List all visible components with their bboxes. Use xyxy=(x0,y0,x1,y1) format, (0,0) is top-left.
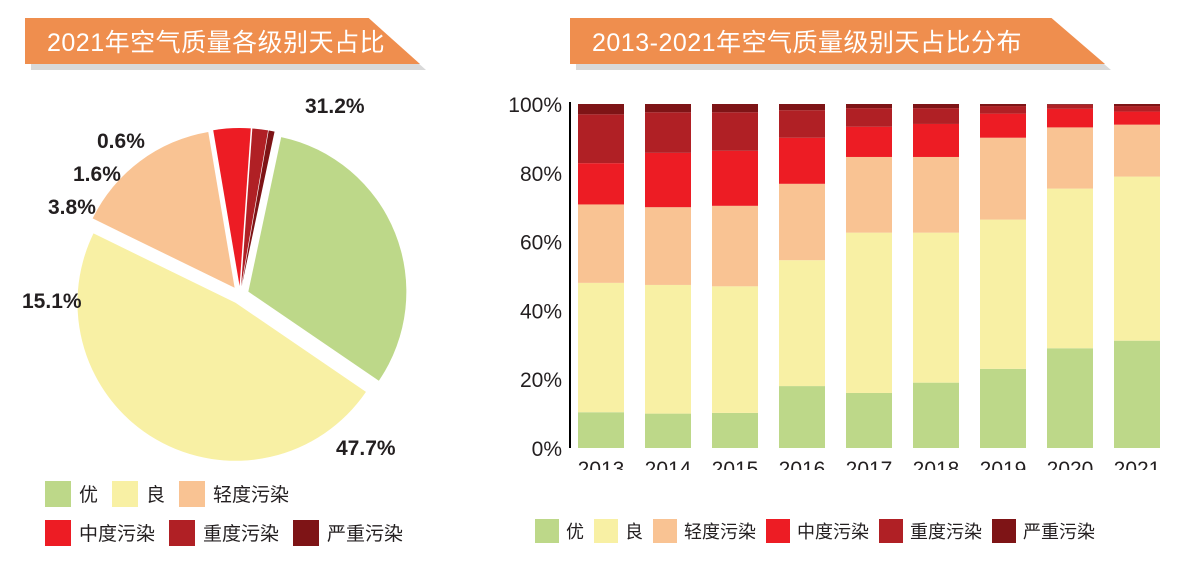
legend-item-zhongduwuran[interactable]: 中度污染 xyxy=(45,519,155,546)
legend-item-liang[interactable]: 良 xyxy=(112,480,165,507)
x-tick-label: 2020 xyxy=(1047,458,1094,470)
legend-swatch-liang xyxy=(112,481,138,507)
left-title-banner: 2021年空气质量各级别天占比 xyxy=(25,18,420,64)
legend-item-yanzhongwuran[interactable]: 严重污染 xyxy=(293,519,403,546)
bar-segment-you xyxy=(779,386,825,448)
bar-segment-qingduwuran xyxy=(645,207,691,285)
pie-legend: 优 良 轻度污染 中度污染 重度污染 严重污染 xyxy=(45,480,465,558)
bar-segment-zhongduwuran xyxy=(980,114,1026,138)
legend-label-qingduwuran: 轻度污染 xyxy=(213,480,289,507)
bar-segment-zhongduwuran-heavy xyxy=(578,114,624,163)
bar-legend-item-qingduwuran[interactable]: 轻度污染 xyxy=(653,518,756,544)
x-axis-ticks: 201320142015201620172018201920202021 xyxy=(578,458,1161,470)
bar-segment-yanzhongwuran xyxy=(578,104,624,114)
bar-legend-item-yanzhongwuran[interactable]: 严重污染 xyxy=(992,518,1095,544)
bar-segment-you xyxy=(578,412,624,448)
bar-segment-zhongduwuran-heavy xyxy=(913,108,959,124)
legend-label-zhongduwuran-heavy: 重度污染 xyxy=(203,519,279,546)
bar-segment-qingduwuran xyxy=(913,157,959,233)
pie-label-liang: 47.7% xyxy=(336,437,396,461)
bar-segment-you xyxy=(712,413,758,448)
pie-chart-panel: 2021年空气质量各级别天占比 31.2% 0.6% 1.6% 3.8% 15.… xyxy=(0,0,500,575)
bar-segment-you xyxy=(980,369,1026,448)
bar-segment-liang xyxy=(1114,177,1160,341)
legend-label-yanzhongwuran: 严重污染 xyxy=(327,519,403,546)
bar-segment-you xyxy=(913,383,959,448)
bar-segment-zhongduwuran xyxy=(645,153,691,207)
x-tick-label: 2021 xyxy=(1114,458,1161,470)
bar-segment-qingduwuran xyxy=(578,204,624,282)
bar-segment-liang xyxy=(913,233,959,383)
bar-segment-you xyxy=(1047,348,1093,448)
y-tick-label: 80% xyxy=(520,163,562,186)
bar-legend-swatch-you xyxy=(535,519,559,543)
bar-segment-zhongduwuran xyxy=(1047,109,1093,128)
bar-segment-yanzhongwuran xyxy=(846,104,892,108)
y-tick-label: 100% xyxy=(508,94,562,117)
bar-segment-you xyxy=(1114,341,1160,448)
right-title-banner: 2013-2021年空气质量级别天占比分布 xyxy=(570,18,1105,64)
bar-segment-liang xyxy=(779,260,825,386)
legend-swatch-zhongduwuran xyxy=(45,520,71,546)
stacked-bar-chart: 0%20%40%60%80%100% 201320142015201620172… xyxy=(500,90,1200,470)
bar-segment-zhongduwuran-heavy xyxy=(846,108,892,127)
bar-legend-swatch-zhongduwuran xyxy=(766,519,790,543)
x-tick-label: 2018 xyxy=(913,458,960,470)
bar-segment-liang xyxy=(846,233,892,393)
bar-segment-zhongduwuran xyxy=(913,124,959,157)
y-tick-label: 20% xyxy=(520,369,562,392)
bar-segment-zhongduwuran xyxy=(1114,112,1160,125)
bar-legend-item-you[interactable]: 优 xyxy=(535,518,584,544)
legend-swatch-qingduwuran xyxy=(179,481,205,507)
bar-segment-qingduwuran xyxy=(1047,127,1093,188)
legend-label-liang: 良 xyxy=(146,480,165,507)
bar-segment-qingduwuran xyxy=(846,157,892,233)
bar-legend-label-zhongduwuran: 中度污染 xyxy=(797,518,869,544)
bar-segment-qingduwuran xyxy=(980,138,1026,220)
pie-label-zhongdu: 3.8% xyxy=(48,196,96,220)
bar-segment-zhongduwuran-heavy xyxy=(1047,105,1093,109)
bar-legend: 优 良 轻度污染 中度污染 重度污染 严重污染 xyxy=(535,518,1195,544)
right-chart-title: 2013-2021年空气质量级别天占比分布 xyxy=(592,23,1022,59)
bar-segment-zhongduwuran-heavy xyxy=(779,110,825,138)
legend-item-qingduwuran[interactable]: 轻度污染 xyxy=(179,480,289,507)
bar-segment-liang xyxy=(980,220,1026,369)
bar-segment-zhongduwuran xyxy=(712,151,758,206)
bar-legend-swatch-liang xyxy=(594,519,618,543)
x-tick-label: 2014 xyxy=(645,458,692,470)
x-tick-label: 2017 xyxy=(846,458,893,470)
pie-label-you: 31.2% xyxy=(305,95,365,119)
legend-swatch-you xyxy=(45,481,71,507)
bar-segment-zhongduwuran xyxy=(779,138,825,184)
y-tick-label: 0% xyxy=(532,438,562,461)
bar-chart-svg: 0%20%40%60%80%100% 201320142015201620172… xyxy=(500,90,1200,470)
legend-item-you[interactable]: 优 xyxy=(45,480,98,507)
bar-segment-you xyxy=(846,393,892,448)
bar-series-group xyxy=(578,104,1160,448)
bar-segment-yanzhongwuran xyxy=(779,104,825,110)
bar-legend-item-zhongduwuran-heavy[interactable]: 重度污染 xyxy=(879,518,982,544)
y-tick-label: 60% xyxy=(520,232,562,255)
bar-segment-liang xyxy=(645,285,691,414)
bar-segment-yanzhongwuran xyxy=(1114,104,1160,106)
bar-segment-zhongduwuran xyxy=(578,163,624,204)
legend-label-you: 优 xyxy=(79,480,98,507)
y-axis-ticks: 0%20%40%60%80%100% xyxy=(508,94,562,461)
bar-legend-item-liang[interactable]: 良 xyxy=(594,518,643,544)
y-tick-label: 40% xyxy=(520,300,562,323)
pie-label-yanzhong: 0.6% xyxy=(97,130,145,154)
x-tick-label: 2013 xyxy=(578,458,625,470)
x-tick-label: 2016 xyxy=(779,458,826,470)
bar-segment-zhongduwuran-heavy xyxy=(645,112,691,153)
bar-segment-qingduwuran xyxy=(1114,125,1160,177)
bar-segment-yanzhongwuran xyxy=(913,104,959,108)
legend-item-zhongduwuran-heavy[interactable]: 重度污染 xyxy=(169,519,279,546)
bar-legend-swatch-yanzhongwuran xyxy=(992,519,1016,543)
bar-segment-zhongduwuran-heavy xyxy=(712,112,758,151)
bar-legend-label-yanzhongwuran: 严重污染 xyxy=(1023,518,1095,544)
bar-segment-liang xyxy=(712,286,758,413)
pie-label-zhongdu2: 1.6% xyxy=(73,163,121,187)
bar-legend-label-liang: 良 xyxy=(625,518,643,544)
bar-segment-yanzhongwuran xyxy=(980,104,1026,106)
bar-segment-yanzhongwuran xyxy=(1047,104,1093,105)
bar-legend-label-you: 优 xyxy=(566,518,584,544)
bar-segment-liang xyxy=(578,283,624,412)
x-tick-label: 2015 xyxy=(712,458,759,470)
x-tick-label: 2019 xyxy=(980,458,1027,470)
legend-label-zhongduwuran: 中度污染 xyxy=(79,519,155,546)
bar-legend-item-zhongduwuran[interactable]: 中度污染 xyxy=(766,518,869,544)
bar-segment-qingduwuran xyxy=(779,184,825,260)
bar-legend-label-qingduwuran: 轻度污染 xyxy=(684,518,756,544)
left-chart-title: 2021年空气质量各级别天占比 xyxy=(47,23,385,59)
legend-swatch-yanzhongwuran xyxy=(293,520,319,546)
bar-legend-swatch-zhongduwuran-heavy xyxy=(879,519,903,543)
pie-label-qingdu: 15.1% xyxy=(22,290,82,314)
bar-segment-qingduwuran xyxy=(712,206,758,287)
bar-segment-you xyxy=(645,414,691,448)
bar-segment-zhongduwuran-heavy xyxy=(980,106,1026,114)
legend-swatch-zhongduwuran-heavy xyxy=(169,520,195,546)
bar-segment-zhongduwuran xyxy=(846,127,892,157)
bar-segment-zhongduwuran-heavy xyxy=(1114,106,1160,112)
bar-legend-swatch-qingduwuran xyxy=(653,519,677,543)
bar-segment-liang xyxy=(1047,189,1093,349)
bar-segment-yanzhongwuran xyxy=(645,104,691,112)
bar-segment-yanzhongwuran xyxy=(712,104,758,112)
bar-legend-label-zhongduwuran-heavy: 重度污染 xyxy=(910,518,982,544)
